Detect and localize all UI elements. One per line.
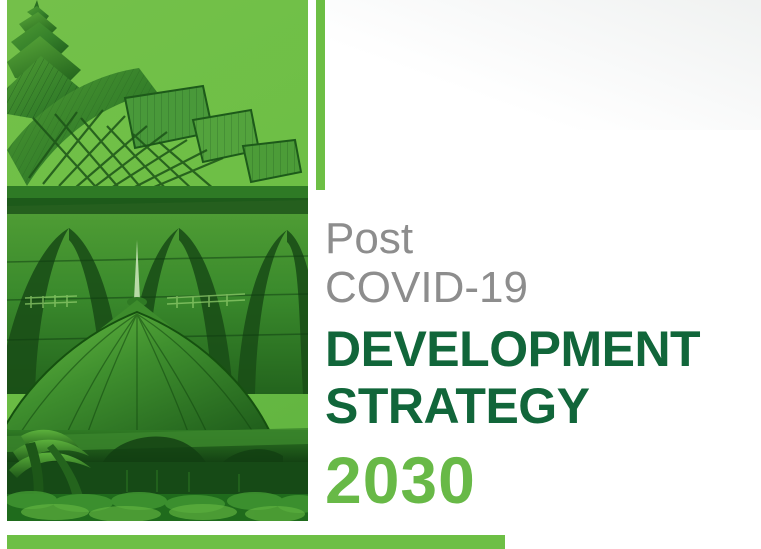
building-photo-duotone-green (7, 0, 308, 521)
vertical-accent-bar (316, 0, 325, 190)
building-photo-svg (7, 0, 308, 521)
headline-year-2030: 2030 (325, 445, 755, 515)
headline-development: DEVELOPMENT (325, 322, 755, 377)
report-cover: Post COVID-19 DEVELOPMENT STRATEGY 2030 (0, 0, 761, 549)
cover-title-block: Post COVID-19 DEVELOPMENT STRATEGY 2030 (325, 214, 755, 515)
eyebrow-line-covid19: COVID-19 (325, 263, 755, 313)
headline-strategy: STRATEGY (325, 379, 755, 434)
bottom-accent-bar (7, 535, 505, 549)
eyebrow-line-post: Post (325, 214, 755, 264)
corner-gradient-wash (330, 0, 761, 130)
